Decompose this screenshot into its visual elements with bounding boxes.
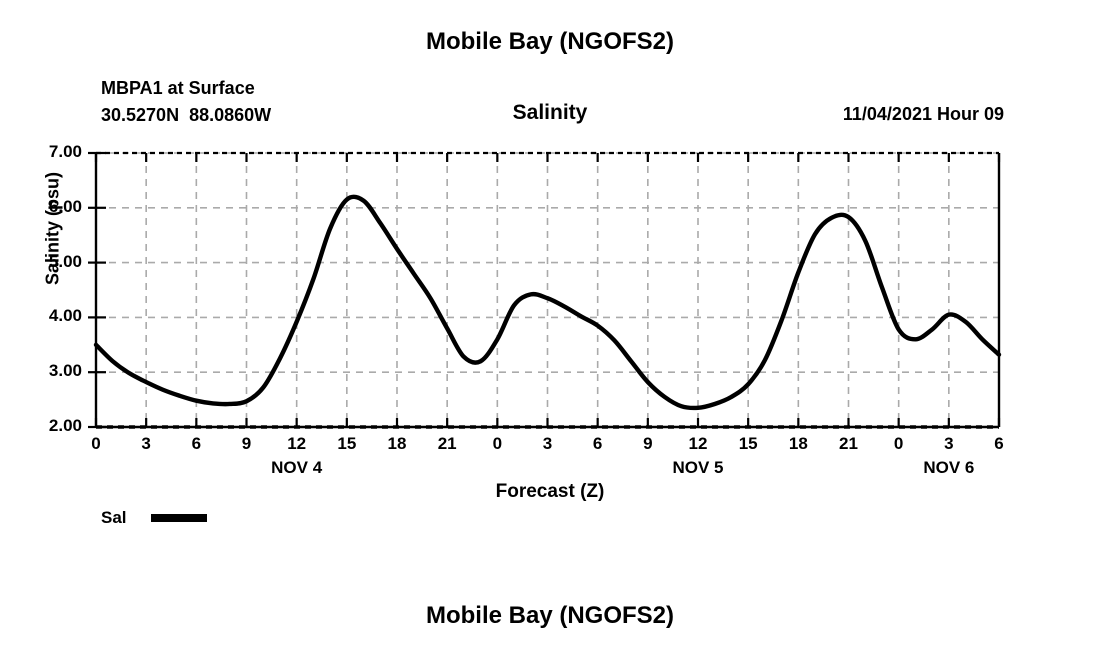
x-axis-tick-label: 15 (332, 434, 362, 454)
y-axis-tick-label: 4.00 (20, 306, 82, 326)
x-axis-tick-label: 0 (884, 434, 914, 454)
x-axis-tick-label: 9 (633, 434, 663, 454)
legend-swatch-sal (151, 514, 207, 522)
y-axis-tick-label: 6.00 (20, 197, 82, 217)
x-axis-day-label: NOV 6 (894, 458, 1004, 478)
y-axis-title: Salinity (psu) (43, 149, 64, 309)
chart-plot-area (0, 0, 1100, 650)
x-axis-tick-label: 3 (131, 434, 161, 454)
chart-legend: Sal (101, 508, 207, 528)
x-axis-day-label: NOV 5 (643, 458, 753, 478)
x-axis-tick-label: 21 (432, 434, 462, 454)
x-axis-tick-label: 15 (733, 434, 763, 454)
x-axis-tick-label: 0 (81, 434, 111, 454)
x-axis-tick-label: 3 (934, 434, 964, 454)
page-title-bottom: Mobile Bay (NGOFS2) (0, 602, 1100, 630)
x-axis-day-label: NOV 4 (242, 458, 352, 478)
x-axis-tick-label: 0 (482, 434, 512, 454)
x-axis-tick-label: 21 (834, 434, 864, 454)
y-axis-tick-label: 7.00 (20, 142, 82, 162)
x-axis-tick-label: 6 (583, 434, 613, 454)
x-axis-tick-label: 6 (181, 434, 211, 454)
x-axis-tick-label: 12 (683, 434, 713, 454)
salinity-line-chart (0, 0, 1100, 650)
x-axis-title: Forecast (Z) (0, 481, 1100, 503)
x-axis-tick-label: 12 (282, 434, 312, 454)
x-axis-tick-label: 3 (533, 434, 563, 454)
x-axis-tick-label: 6 (984, 434, 1014, 454)
x-axis-tick-label: 18 (382, 434, 412, 454)
y-axis-tick-label: 3.00 (20, 361, 82, 381)
y-axis-tick-label: 2.00 (20, 416, 82, 436)
x-axis-tick-label: 18 (783, 434, 813, 454)
x-axis-tick-label: 9 (232, 434, 262, 454)
legend-label-sal: Sal (101, 508, 127, 528)
y-axis-tick-label: 5.00 (20, 252, 82, 272)
